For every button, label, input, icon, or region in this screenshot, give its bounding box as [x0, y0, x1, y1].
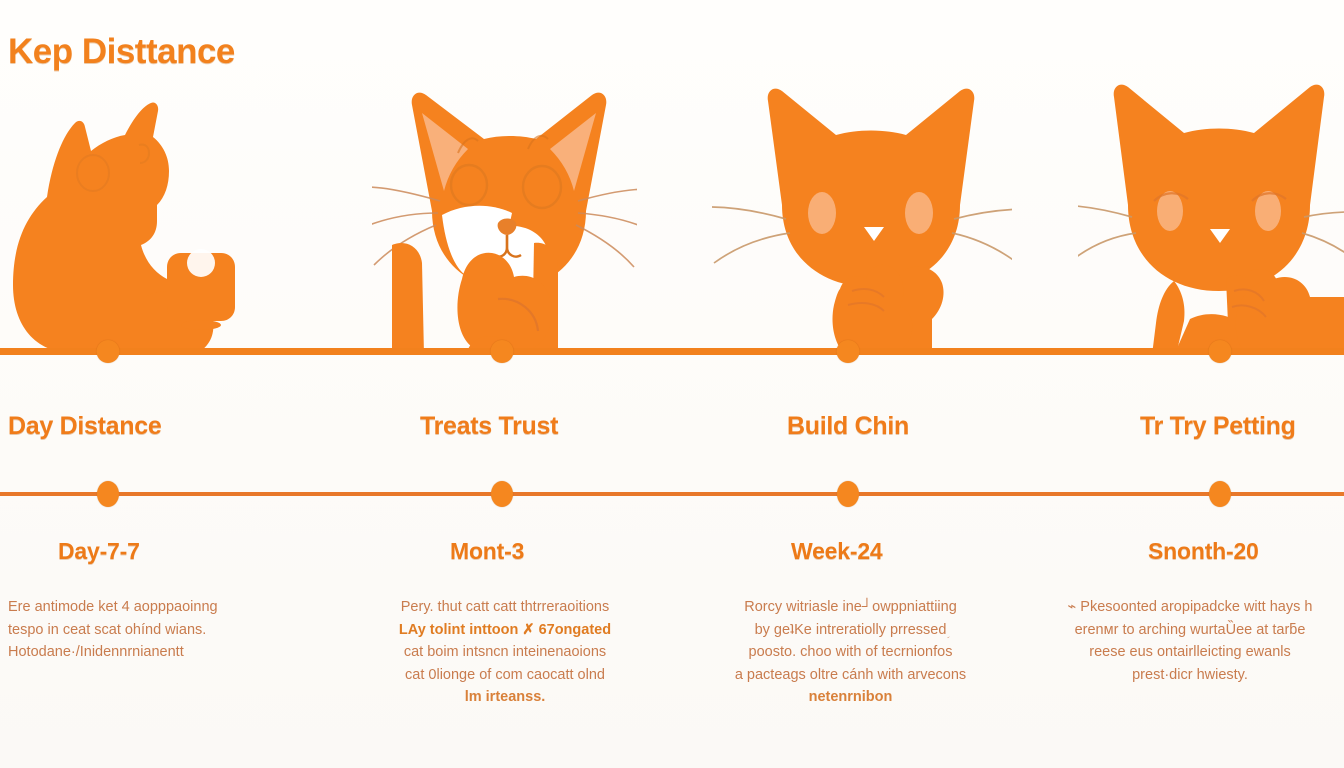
stage-body-line: Pery. thut catt catt thtrreraoitions [370, 596, 640, 619]
stage-body-1: Ere antimode ket 4 aopppaoinng tespo in … [8, 596, 338, 664]
illustration-band [0, 70, 1344, 355]
stage-title-4: Tr Try Petting [1140, 412, 1296, 441]
stage-body-line: cat boim intsncn inteinenaoions [370, 641, 640, 664]
stage-body-line: by ɡeʇKe intreratiolly prressedؚ [708, 619, 993, 642]
stage-body-line: reese eus ontairlleicting ewanls [1040, 641, 1340, 664]
lower-timeline-rail [0, 492, 1344, 496]
upper-timeline-node-4[interactable] [1209, 340, 1232, 363]
stage-body-line: cat 0lionge of com caocatt olnd [370, 664, 640, 687]
cat-sitting-profile-with-bowl-illustration [0, 85, 255, 355]
upper-timeline-node-3[interactable] [837, 340, 860, 363]
lower-timeline-node-2[interactable] [491, 481, 513, 507]
stage-subtitle-4: Snonth-20 [1148, 538, 1259, 565]
stage-body-line: erenмr to archinɡ wurtaȔee at tarƃe [1040, 619, 1340, 642]
page-title: Kep Disttance [8, 32, 235, 72]
lower-timeline-node-3[interactable] [837, 481, 859, 507]
stage-body-3: Rorcy witriasle ine┘owppniattiing by ɡeʇ… [708, 596, 993, 709]
stage-title-1: Day Distance [8, 412, 161, 441]
stage-title-3: Build Chin [787, 412, 909, 441]
stage-body-line: lm irteanss. [370, 686, 640, 709]
stage-subtitle-1: Day-7-7 [58, 538, 140, 565]
stage-body-line: poosto. choo with of tecrnionfos [708, 641, 993, 664]
upper-timeline-node-2[interactable] [491, 340, 514, 363]
stage-body-line: a pacteags oltre cánh with arvecons [708, 664, 993, 687]
upper-timeline-rail [0, 348, 1344, 355]
lower-timeline-node-4[interactable] [1209, 481, 1231, 507]
stage-body-line: Ere antimode ket 4 aopppaoinng [8, 596, 338, 619]
stage-body-line: Rorcy witriasle ine┘owppniattiing [708, 596, 993, 619]
stage-subtitle-2: Mont-3 [450, 538, 524, 565]
stage-body-4: ⌁ Pkesoonted aropipadcke witt hays h ere… [1040, 596, 1340, 686]
stage-body-line: tespo in ceat scat ohínd wians. [8, 619, 338, 642]
cat-head-front-with-hand-below-illustration [712, 83, 1012, 355]
stage-title-2: Treats Trust [420, 412, 558, 441]
stage-subtitle-3: Week-24 [791, 538, 883, 565]
lower-timeline-node-1[interactable] [97, 481, 119, 507]
stage-body-line: ⌁ Pkesoonted aropipadcke witt hays h [1040, 596, 1340, 619]
stage-body-2: Pery. thut catt catt thtrreraoitions LAy… [370, 596, 640, 709]
cat-eyes-closed-being-petted-illustration [1078, 83, 1344, 355]
stage-body-line: Hotodane·/Inidennrnianentt [8, 641, 338, 664]
stage-body-line: LAy tolint inttoon ✗ 67ongated [370, 619, 640, 642]
upper-timeline-node-1[interactable] [97, 340, 120, 363]
infographic-poster: Kep Disttance [0, 0, 1344, 768]
cat-face-with-hand-offering-treat-illustration [372, 83, 637, 355]
stage-body-line: netenrnibon [708, 686, 993, 709]
stage-body-line: prest·dicr hwiesty. [1040, 664, 1340, 687]
